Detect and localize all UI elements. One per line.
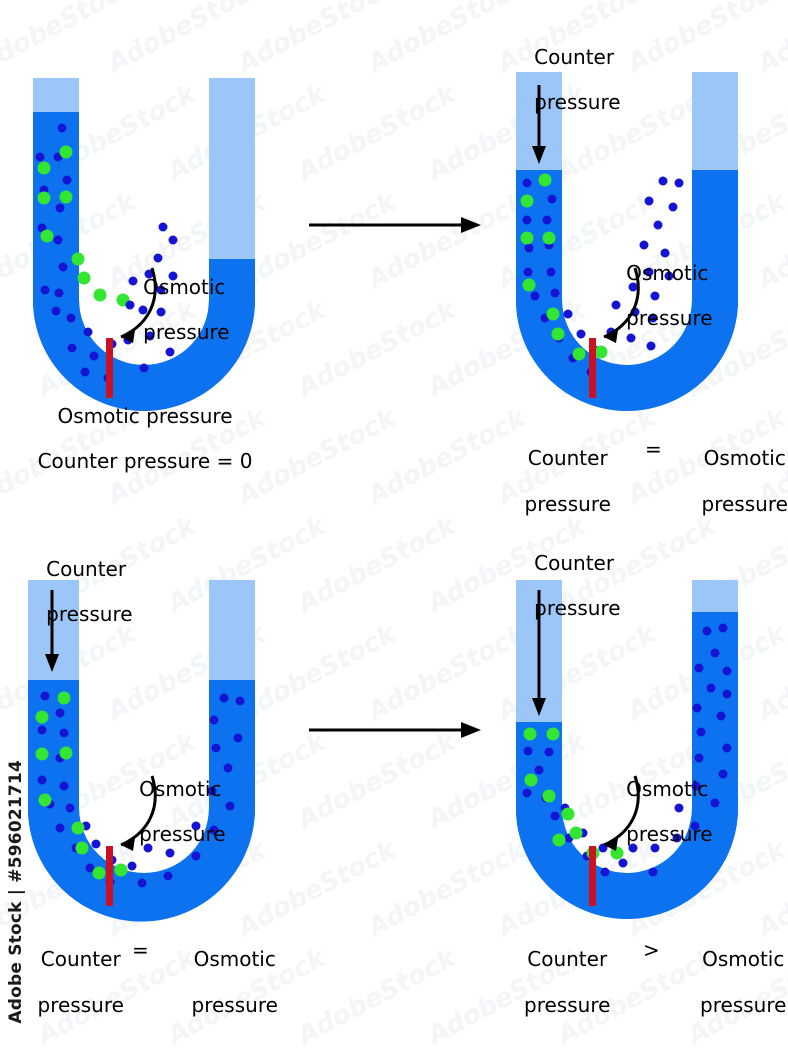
osmotic-pressure-label-1: Osmotic pressure <box>105 254 230 366</box>
osmotic-label-line1: Osmotic <box>143 275 225 299</box>
figure-canvas: AdobeStockAdobeStockAdobeStockAdobeStock… <box>0 0 788 1000</box>
counter-label-line2: pressure <box>46 602 132 626</box>
counter-pressure-label-2: Counter pressure <box>496 24 621 136</box>
watermark-tile: AdobeStock <box>293 943 461 1051</box>
watermark-tile: AdobeStock <box>293 295 461 403</box>
panel-3-caption-left: Counter pressure <box>8 925 128 1040</box>
counter-pressure-label-3: Counter pressure <box>8 536 133 648</box>
counter-label-line1: Counter <box>46 557 126 581</box>
caption-line2: pressure <box>700 993 786 1017</box>
caption-line2: pressure <box>38 993 124 1017</box>
panel-1-caption-line1: Osmotic pressure <box>20 405 270 428</box>
transition-arrow-bottom <box>305 715 485 745</box>
counter-label-line2: pressure <box>534 90 620 114</box>
watermark-tile: AdobeStock <box>293 511 461 619</box>
panel-1-diagram: Osmotic pressure <box>0 0 300 410</box>
panel-3-diagram: Osmotic pressure Counter pressure <box>0 508 300 918</box>
osmotic-label-line1: Osmotic <box>626 261 708 285</box>
osmotic-label-line1: Osmotic <box>626 777 708 801</box>
counter-label-line2: pressure <box>534 596 620 620</box>
panel-2-diagram: Osmotic pressure Counter pressure <box>483 0 783 410</box>
panel-4-caption-right: Osmotic pressure <box>668 925 788 1040</box>
osmotic-label-line2: pressure <box>139 822 225 846</box>
panel-4-diagram: Osmotic pressure Counter pressure <box>483 508 783 918</box>
counter-label-line1: Counter <box>534 551 614 575</box>
watermark-tile: AdobeStock <box>293 79 461 187</box>
caption-line2: pressure <box>192 993 278 1017</box>
osmotic-pressure-label-2: Osmotic pressure <box>588 240 713 352</box>
caption-line2: pressure <box>524 993 610 1017</box>
panel-3-caption-operator: = <box>132 938 149 962</box>
panel-1-caption-line2: Counter pressure = 0 <box>10 450 280 473</box>
osmotic-label-line2: pressure <box>143 320 229 344</box>
osmotic-pressure-label-4: Osmotic pressure <box>588 756 713 868</box>
caption-line1: Osmotic <box>702 947 784 971</box>
osmotic-label-line2: pressure <box>626 306 712 330</box>
counter-pressure-label-4: Counter pressure <box>496 530 621 642</box>
osmotic-label-line2: pressure <box>626 822 712 846</box>
panel-4-caption-left: Counter pressure <box>492 925 617 1040</box>
caption-line1: Counter <box>527 947 607 971</box>
osmotic-pressure-label-3: Osmotic pressure <box>101 756 226 868</box>
caption-line1: Osmotic <box>704 446 786 470</box>
caption-line1: Counter <box>41 947 121 971</box>
caption-line1: Osmotic <box>194 947 276 971</box>
transition-arrow-top <box>305 210 485 240</box>
counter-label-line1: Counter <box>534 45 614 69</box>
panel-3-caption-right: Osmotic pressure <box>162 925 282 1040</box>
panel-4-caption-operator: > <box>643 938 660 962</box>
caption-line1: Counter <box>528 446 608 470</box>
osmotic-label-line1: Osmotic <box>139 777 221 801</box>
panel-2-caption-operator: = <box>645 437 662 461</box>
stock-watermark-id: Adobe Stock | #596021714 <box>6 760 26 1024</box>
